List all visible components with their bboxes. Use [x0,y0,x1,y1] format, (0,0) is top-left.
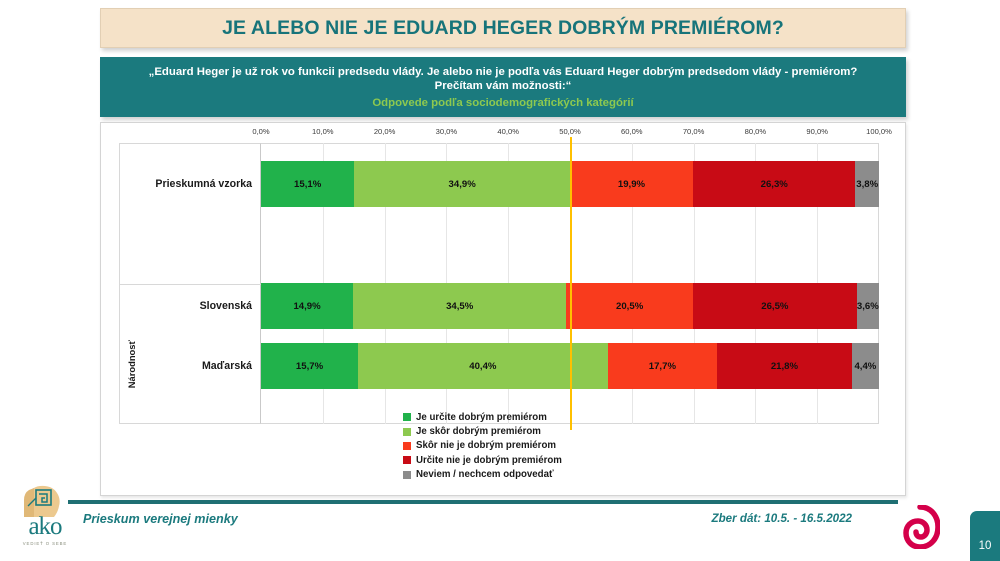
brand-spiral-icon [900,505,940,549]
footer-date: Zber dát: 10.5. - 16.5.2022 [712,512,852,525]
fifty-percent-reference-line [570,137,572,430]
bar-segment[interactable]: 14,9% [261,283,353,329]
bar-value-label: 34,9% [449,179,476,190]
x-tick-label: 30,0% [436,127,458,136]
plot-area: 15,1%34,9%19,9%26,3%3,8%14,9%34,5%20,5%2… [261,143,879,424]
category-axis: Národnosť Prieskumná vzorkaSlovenskáMaďa… [119,143,261,424]
subtitle-line-3: Odpovede podľa sociodemografických kateg… [372,97,633,109]
ako-wordmark: ako [14,514,76,539]
x-tick-label: 60,0% [621,127,643,136]
subtitle-line-2: Prečítam vám možnosti:“ [435,79,572,94]
bar-value-label: 26,5% [761,301,788,312]
bar-value-label: 34,5% [446,301,473,312]
bar-value-label: 21,8% [771,361,798,372]
x-tick-label: 10,0% [312,127,334,136]
x-tick-label: 0,0% [252,127,269,136]
page-title: JE ALEBO NIE JE EDUARD HEGER DOBRÝM PREM… [222,17,784,40]
bar-segment[interactable]: 21,8% [717,343,852,389]
chart-legend: Je určite dobrým premiéromJe skôr dobrým… [403,410,663,482]
legend-swatch [403,428,411,436]
bar-segment[interactable]: 15,1% [261,161,354,207]
page-number: 10 [979,540,992,552]
bar-value-label: 15,1% [294,179,321,190]
bar-value-label: 3,8% [856,179,878,190]
footer-divider [68,500,898,504]
x-tick-label: 20,0% [374,127,396,136]
bar-segment[interactable]: 3,8% [855,161,878,207]
bar-segment[interactable]: 4,4% [852,343,879,389]
subtitle-banner: „Eduard Heger je už rok vo funkcii preds… [100,57,906,117]
legend-label: Určite nie je dobrým premiérom [416,455,562,466]
bar-value-label: 19,9% [618,179,645,190]
page-badge: 10 [970,511,1000,561]
category-group-divider [120,284,262,285]
legend-label: Skôr nie je dobrým premiérom [416,440,556,451]
legend-item[interactable]: Určite nie je dobrým premiérom [403,453,663,467]
x-tick-label: 70,0% [683,127,705,136]
legend-label: Je určite dobrým premiérom [416,412,547,423]
bar-value-label: 20,5% [616,301,643,312]
legend-label: Je skôr dobrým premiérom [416,426,541,437]
category-label: Maďarská [202,360,252,372]
axis-group-label: Národnosť [126,340,137,388]
bar-value-label: 3,6% [857,301,879,312]
legend-label: Neviem / nechcem odpovedať [416,469,554,480]
x-tick-label: 90,0% [806,127,828,136]
bar-segment[interactable]: 17,7% [608,343,717,389]
bar-value-label: 15,7% [296,361,323,372]
footer-note: Prieskum verejnej mienky [83,512,238,526]
bar-segment[interactable]: 26,3% [693,161,856,207]
legend-item[interactable]: Neviem / nechcem odpovedať [403,468,663,482]
category-label: Slovenská [200,300,252,312]
legend-item[interactable]: Skôr nie je dobrým premiérom [403,439,663,453]
title-banner: JE ALEBO NIE JE EDUARD HEGER DOBRÝM PREM… [100,8,906,48]
legend-swatch [403,471,411,479]
x-tick-label: 50,0% [559,127,581,136]
subtitle-line-1: „Eduard Heger je už rok vo funkcii preds… [149,65,858,80]
x-tick-label: 80,0% [745,127,767,136]
bar-segment[interactable]: 20,5% [566,283,693,329]
legend-item[interactable]: Je skôr dobrým premiérom [403,424,663,438]
legend-swatch [403,456,411,464]
bar-segment[interactable]: 34,9% [354,161,570,207]
chart-panel: 0,0%10,0%20,0%30,0%40,0%50,0%60,0%70,0%8… [100,122,906,496]
bar-value-label: 14,9% [293,301,320,312]
bar-segment[interactable]: 3,6% [857,283,879,329]
bar-segment[interactable]: 26,5% [693,283,857,329]
legend-item[interactable]: Je určite dobrým premiérom [403,410,663,424]
bar-segment[interactable]: 19,9% [570,161,693,207]
category-label: Prieskumná vzorka [155,178,252,190]
ako-tagline: VEDIEŤ O SEBE [14,541,76,546]
bar-value-label: 40,4% [469,361,496,372]
legend-swatch [403,442,411,450]
bar-value-label: 26,3% [761,179,788,190]
bar-segment[interactable]: 34,5% [353,283,566,329]
bar-value-label: 17,7% [649,361,676,372]
bar-value-label: 4,4% [854,361,876,372]
ako-logo: ako VEDIEŤ O SEBE [14,484,76,554]
x-tick-label: 100,0% [866,127,892,136]
x-tick-label: 40,0% [497,127,519,136]
legend-swatch [403,413,411,421]
bar-segment[interactable]: 15,7% [261,343,358,389]
